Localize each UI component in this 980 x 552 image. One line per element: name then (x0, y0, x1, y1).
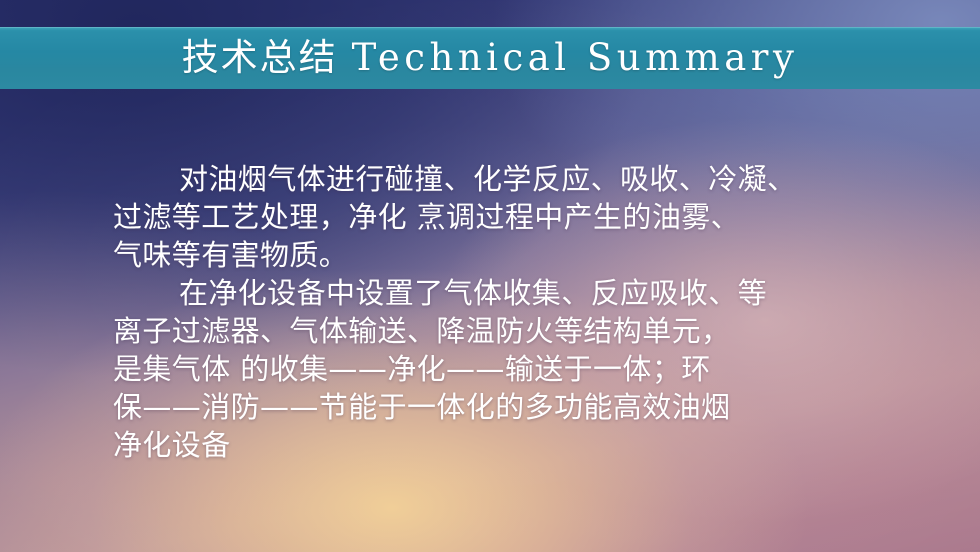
body-line: 在净化设备中设置了气体收集、反应吸收、等 (113, 274, 883, 312)
title-banner: 技术总结Technical Summary (0, 27, 980, 89)
body-line: 离子过滤器、气体输送、降温防火等结构单元， (113, 312, 883, 350)
body-text-block: 对油烟气体进行碰撞、化学反应、吸收、冷凝、 过滤等工艺处理，净化 烹调过程中产生… (113, 160, 883, 464)
body-line: 过滤等工艺处理，净化 烹调过程中产生的油雾、 (113, 198, 883, 236)
body-line: 保——消防——节能于一体化的多功能高效油烟 (113, 388, 883, 426)
body-line: 气味等有害物质。 (113, 236, 883, 274)
page-title: 技术总结Technical Summary (182, 39, 799, 76)
body-line: 是集气体 的收集——净化——输送于一体；环 (113, 350, 883, 388)
page-title-chinese: 技术总结 (182, 36, 338, 79)
presentation-slide: 技术总结Technical Summary 对油烟气体进行碰撞、化学反应、吸收、… (0, 0, 980, 552)
page-title-english: Technical Summary (352, 36, 799, 79)
body-line: 净化设备 (113, 426, 883, 464)
body-line: 对油烟气体进行碰撞、化学反应、吸收、冷凝、 (113, 160, 883, 198)
